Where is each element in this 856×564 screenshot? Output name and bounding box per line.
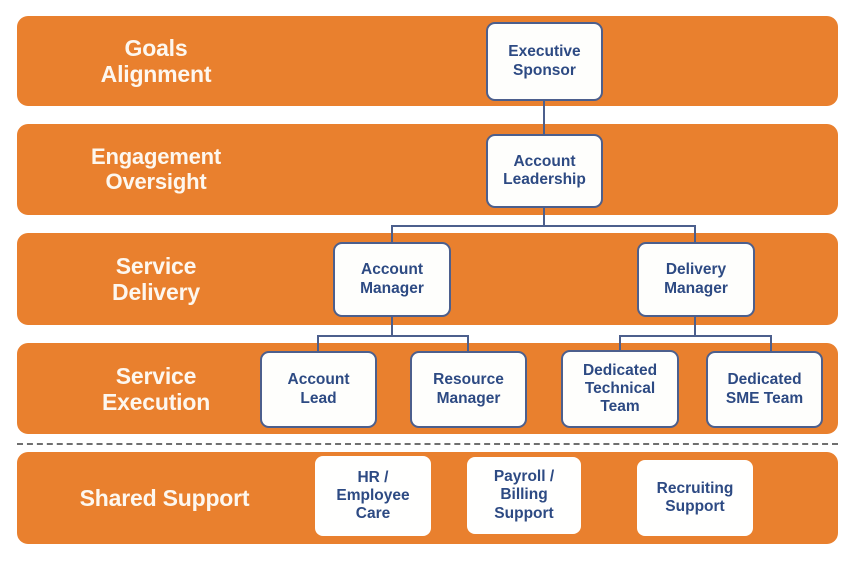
node-dedicated-technical-team[interactable]: Dedicated Technical Team (561, 350, 679, 428)
band-label-goals-alignment: Goals Alignment (101, 35, 212, 87)
connector-drop-dedicated-sme-team (770, 335, 772, 352)
band-label-slot-service-execution: Service Execution (31, 343, 281, 434)
node-resource-manager[interactable]: Resource Manager (410, 351, 527, 428)
node-delivery-manager[interactable]: Delivery Manager (637, 242, 755, 317)
connector-delivery-manager-bus (619, 335, 772, 337)
band-label-slot-goals-alignment: Goals Alignment (31, 16, 281, 106)
band-label-service-delivery: Service Delivery (112, 253, 200, 305)
band-label-slot-shared-support: Shared Support (17, 452, 312, 544)
org-chart-canvas: Goals Alignment Engagement Oversight Ser… (0, 0, 856, 564)
node-dedicated-sme-team[interactable]: Dedicated SME Team (706, 351, 823, 428)
band-label-slot-service-delivery: Service Delivery (31, 233, 281, 325)
node-payroll-billing-support[interactable]: Payroll / Billing Support (467, 457, 581, 534)
node-recruiting-support[interactable]: Recruiting Support (637, 460, 753, 536)
connector-account-leadership-bus (391, 225, 695, 227)
connector-executive-sponsor-to-account-leadership (543, 98, 545, 136)
band-label-engagement-oversight: Engagement Oversight (91, 145, 221, 195)
connector-account-leadership-stem (543, 205, 545, 225)
connector-delivery-manager-stem (694, 315, 696, 335)
band-label-service-execution: Service Execution (102, 363, 210, 415)
band-label-slot-engagement-oversight: Engagement Oversight (31, 124, 281, 215)
shared-support-divider (17, 443, 838, 445)
band-label-shared-support: Shared Support (80, 485, 250, 511)
connector-account-manager-stem (391, 315, 393, 335)
node-hr-employee-care[interactable]: HR / Employee Care (315, 456, 431, 536)
band-goals-alignment: Goals Alignment (17, 16, 838, 106)
node-executive-sponsor[interactable]: Executive Sponsor (486, 22, 603, 101)
node-account-leadership[interactable]: Account Leadership (486, 134, 603, 208)
connector-account-manager-bus (317, 335, 469, 337)
connector-drop-account-lead (317, 335, 319, 352)
node-account-lead[interactable]: Account Lead (260, 351, 377, 428)
band-engagement-oversight: Engagement Oversight (17, 124, 838, 215)
connector-drop-resource-manager (467, 335, 469, 352)
node-account-manager[interactable]: Account Manager (333, 242, 451, 317)
